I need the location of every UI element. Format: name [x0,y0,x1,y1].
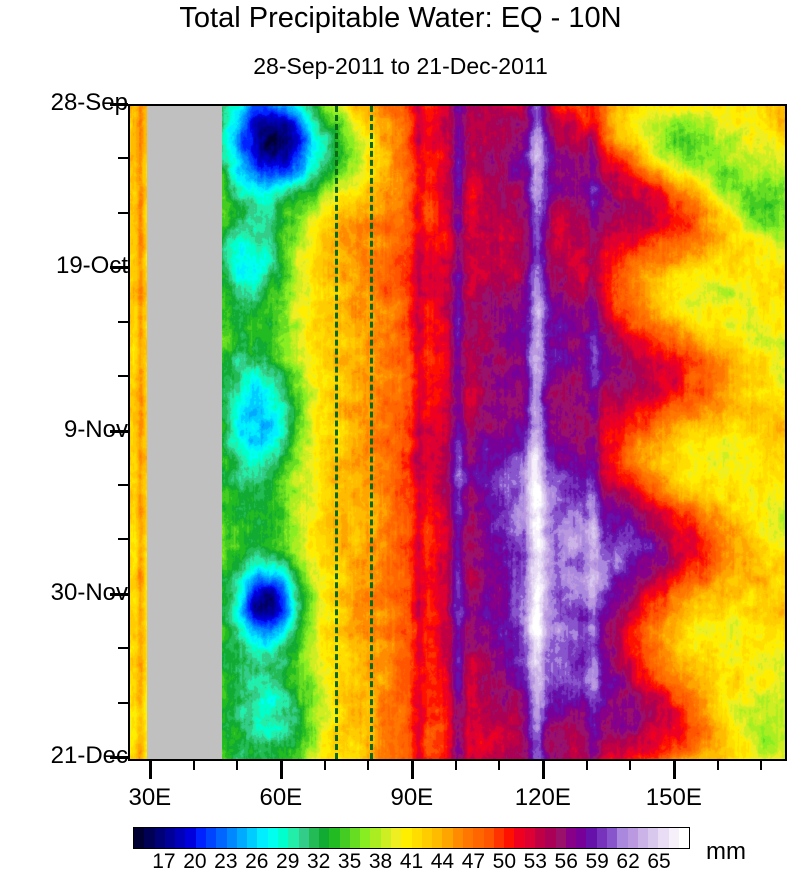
colorbar-swatch [484,828,494,848]
y-axis-tick-label: 19-Oct [20,252,128,280]
colorbar-swatch [216,828,226,848]
colorbar-swatch [299,828,309,848]
x-axis-minor-tick [629,759,631,770]
x-axis-tick-label: 90E [352,784,472,812]
colorbar-swatch [391,828,401,848]
x-axis-minor-tick [760,759,762,770]
colorbar-swatch [473,828,483,848]
colorbar-swatch [638,828,648,848]
y-axis-tick-label: 21-Dec [20,742,128,770]
x-axis-minor-tick [498,759,500,770]
x-axis-tick [673,759,676,779]
colorbar-swatch [442,828,452,848]
x-axis-minor-tick [367,759,369,770]
colorbar-swatch [566,828,576,848]
x-axis-tick-label: 150E [614,784,734,812]
x-axis-tick [149,759,152,779]
colorbar-swatch [607,828,617,848]
colorbar-swatch [648,828,658,848]
x-axis-minor-tick [324,759,326,770]
y-axis-minor-tick [118,321,128,323]
heatmap-canvas [130,106,785,759]
y-axis-tick-label: 28-Sep [20,89,128,117]
x-axis-minor-tick [193,759,195,770]
y-axis-tick-label: 9-Nov [20,416,128,444]
colorbar-swatch [576,828,586,848]
plot-area [128,104,787,761]
x-axis-tick-label: 30E [90,784,210,812]
colorbar-swatch [329,828,339,848]
y-axis-minor-tick [118,484,128,486]
x-axis-tick-label: 60E [221,784,341,812]
x-axis-minor-tick [236,759,238,770]
x-axis-tick [542,759,545,779]
colorbar-swatch [669,828,679,848]
x-axis-tick [411,759,414,779]
colorbar-swatch [504,828,514,848]
colorbar-swatch [237,828,247,848]
colorbar-swatch [165,828,175,848]
colorbar-swatch [155,828,165,848]
colorbar-swatch [185,828,195,848]
colorbar-swatch [494,828,504,848]
x-axis-minor-tick [717,759,719,770]
y-axis-minor-tick [118,702,128,704]
colorbar-tick-label: 65 [629,850,689,874]
colorbar-swatch [432,828,442,848]
colorbar-swatch [525,828,535,848]
y-axis-minor-tick [118,212,128,214]
colorbar-swatch [370,828,380,848]
x-axis-minor-tick [586,759,588,770]
colorbar-swatch [227,828,237,848]
y-axis-minor-tick [118,375,128,377]
colorbar-swatch [628,828,638,848]
colorbar-swatch [535,828,545,848]
colorbar-swatch [597,828,607,848]
x-axis-tick [280,759,283,779]
y-axis: 28-Sep19-Oct9-Nov30-Nov21-Dec [0,0,128,873]
colorbar-swatch [412,828,422,848]
y-axis-minor-tick [118,157,128,159]
colorbar-swatch [196,828,206,848]
y-axis-minor-tick [118,538,128,540]
colorbar-swatch [679,828,689,848]
colorbar-swatch [453,828,463,848]
colorbar-unit-label: mm [706,838,746,866]
colorbar-swatch [309,828,319,848]
colorbar-swatch [463,828,473,848]
colorbar-swatch [247,828,257,848]
hovmoller-figure: Total Precipitable Water: EQ - 10N 28-Se… [0,0,801,873]
colorbar[interactable] [133,827,690,849]
colorbar-swatch [514,828,524,848]
y-axis-tick-label: 30-Nov [20,579,128,607]
colorbar-swatch [288,828,298,848]
colorbar-swatch [556,828,566,848]
colorbar-swatch [206,828,216,848]
colorbar-swatch [381,828,391,848]
colorbar-swatch [617,828,627,848]
colorbar-swatch [545,828,555,848]
colorbar-swatch [401,828,411,848]
colorbar-swatch [586,828,596,848]
x-axis-tick-label: 120E [483,784,603,812]
colorbar-swatch [360,828,370,848]
y-axis-minor-tick [118,647,128,649]
colorbar-swatch [175,828,185,848]
colorbar-swatch [350,828,360,848]
colorbar-swatch [144,828,154,848]
colorbar-swatch [340,828,350,848]
colorbar-swatch [257,828,267,848]
x-axis-minor-tick [455,759,457,770]
colorbar-swatch [319,828,329,848]
colorbar-swatch [278,828,288,848]
colorbar-swatch [658,828,668,848]
colorbar-swatch [134,828,144,848]
colorbar-swatch [268,828,278,848]
colorbar-swatch [422,828,432,848]
